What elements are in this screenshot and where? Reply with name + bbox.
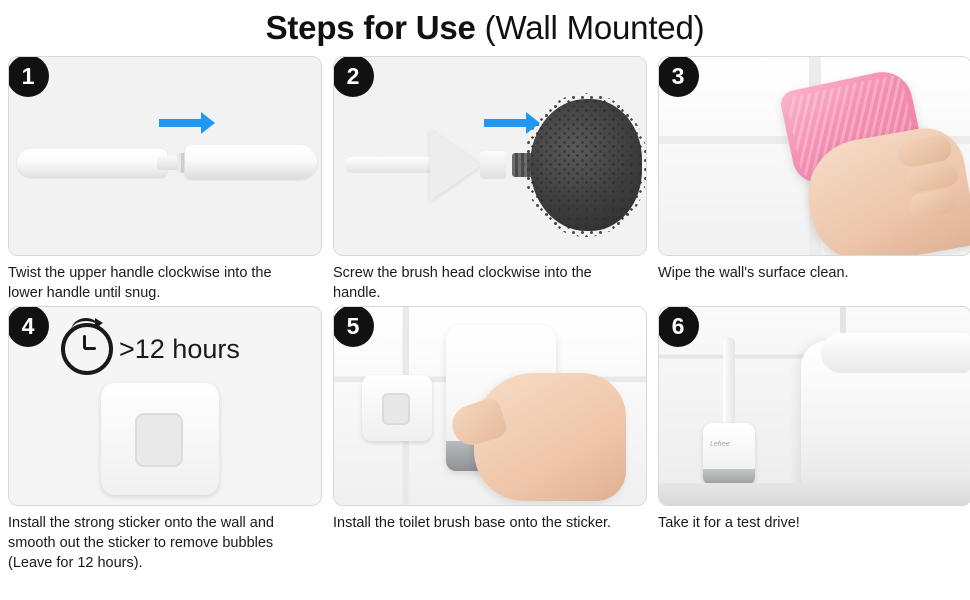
lower-handle-part [17,149,167,177]
toilet-brush-handle [723,337,735,429]
step-5-number: 5 [333,306,374,347]
toilet-lid [821,333,970,373]
step-4-image: 4 >12 hours [8,306,322,506]
page-title-suffix: (Wall Mounted) [476,9,705,46]
steps-grid: 1 Twist the upper handle clockwise into … [0,48,970,556]
handle-stem [344,157,440,173]
step-6: 6 Lefree Take it for a test drive! [658,306,970,556]
installed-result-illustration: Lefree [659,307,970,505]
step-2-caption: Screw the brush head clockwise into the … [333,263,633,303]
step-1-caption: Twist the upper handle clockwise into th… [8,263,308,303]
step-2-image: 2 [333,56,647,256]
toilet-brush-base: Lefree [703,423,755,485]
clock-icon [61,323,113,375]
base-install-illustration: Lefree [334,307,646,505]
step-3-caption: Wipe the wall's surface clean. [658,263,958,283]
instruction-sheet: Steps for Use (Wall Mounted) 1 Twist the… [0,0,970,600]
brand-label: Lefree [710,441,730,448]
adhesive-sticker [362,375,432,441]
step-3-image: 3 [658,56,970,256]
silicone-brush-head [530,99,642,231]
adhesive-sticker [101,383,219,495]
handle-neck [480,151,506,179]
floor [659,483,970,505]
step-5-image: 5 Lefree [333,306,647,506]
step-6-image: 6 Lefree [658,306,970,506]
step-5: 5 Lefree Install the toilet brush base o… [333,306,658,556]
upper-handle-part [185,145,317,179]
brush-head-assembly-illustration [334,57,646,255]
wait-time-label: >12 hours [119,334,240,365]
direction-arrow-icon [159,119,203,127]
finger [907,188,958,220]
page-title-main: Steps for Use [266,9,476,46]
step-4-number: 4 [8,306,49,347]
sticker-install-illustration: >12 hours [9,307,321,505]
step-1-number: 1 [8,56,49,97]
clock-rotation-arrow-icon [71,318,101,331]
handle-cone [430,129,482,201]
step-5-caption: Install the toilet brush base onto the s… [333,513,633,533]
page-title: Steps for Use (Wall Mounted) [0,0,970,48]
handle-assembly-illustration [9,57,321,255]
step-6-caption: Take it for a test drive! [658,513,958,533]
step-3-number: 3 [658,56,699,97]
wait-time-indicator: >12 hours [61,323,240,375]
step-2-number: 2 [333,56,374,97]
direction-arrow-icon [484,119,528,127]
wipe-wall-illustration [659,57,970,255]
step-4: 4 >12 hours Install the strong sticker o… [8,306,333,556]
step-2: 2 Screw the brush head clockwise into th… [333,56,658,306]
step-3: 3 Wipe the wall's surface clean. [658,56,970,306]
step-6-number: 6 [658,306,699,347]
step-4-caption: Install the strong sticker onto the wall… [8,513,308,573]
step-1: 1 Twist the upper handle clockwise into … [8,56,333,306]
step-1-image: 1 [8,56,322,256]
